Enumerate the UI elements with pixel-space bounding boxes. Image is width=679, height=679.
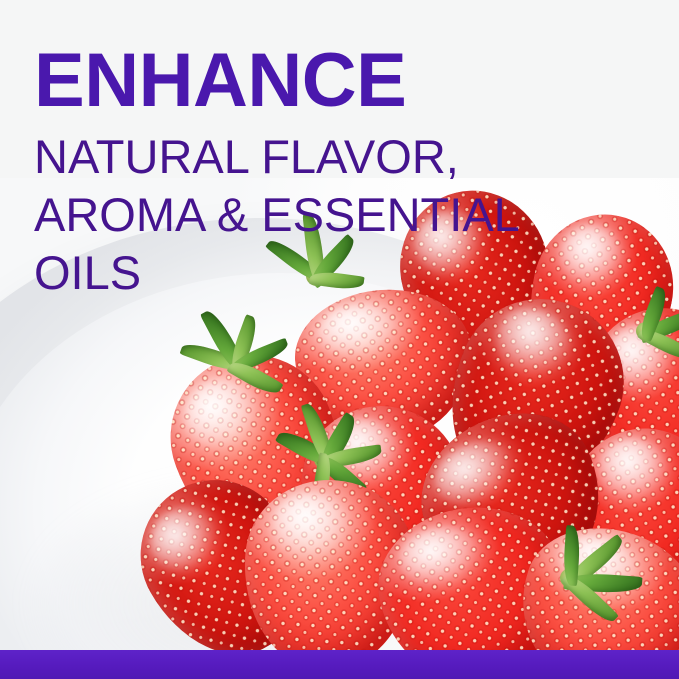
subtitle-line: AROMA & ESSENTIAL xyxy=(34,186,520,244)
berry-highlight xyxy=(269,491,352,561)
subtitle-line: OILS xyxy=(34,244,520,302)
promo-poster: ENHANCE NATURAL FLAVOR, AROMA & ESSENTIA… xyxy=(0,0,679,679)
subtitle-line: NATURAL FLAVOR, xyxy=(34,128,520,186)
strawberry-calyx xyxy=(596,274,679,384)
berry-highlight xyxy=(138,495,228,582)
subtitle: NATURAL FLAVOR, AROMA & ESSENTIAL OILS xyxy=(34,128,520,302)
berry-highlight xyxy=(394,520,487,592)
bottom-accent-bar xyxy=(0,650,679,679)
strawberry-calyx xyxy=(512,516,652,636)
page-title: ENHANCE xyxy=(34,43,406,119)
berry-highlight xyxy=(485,297,581,387)
